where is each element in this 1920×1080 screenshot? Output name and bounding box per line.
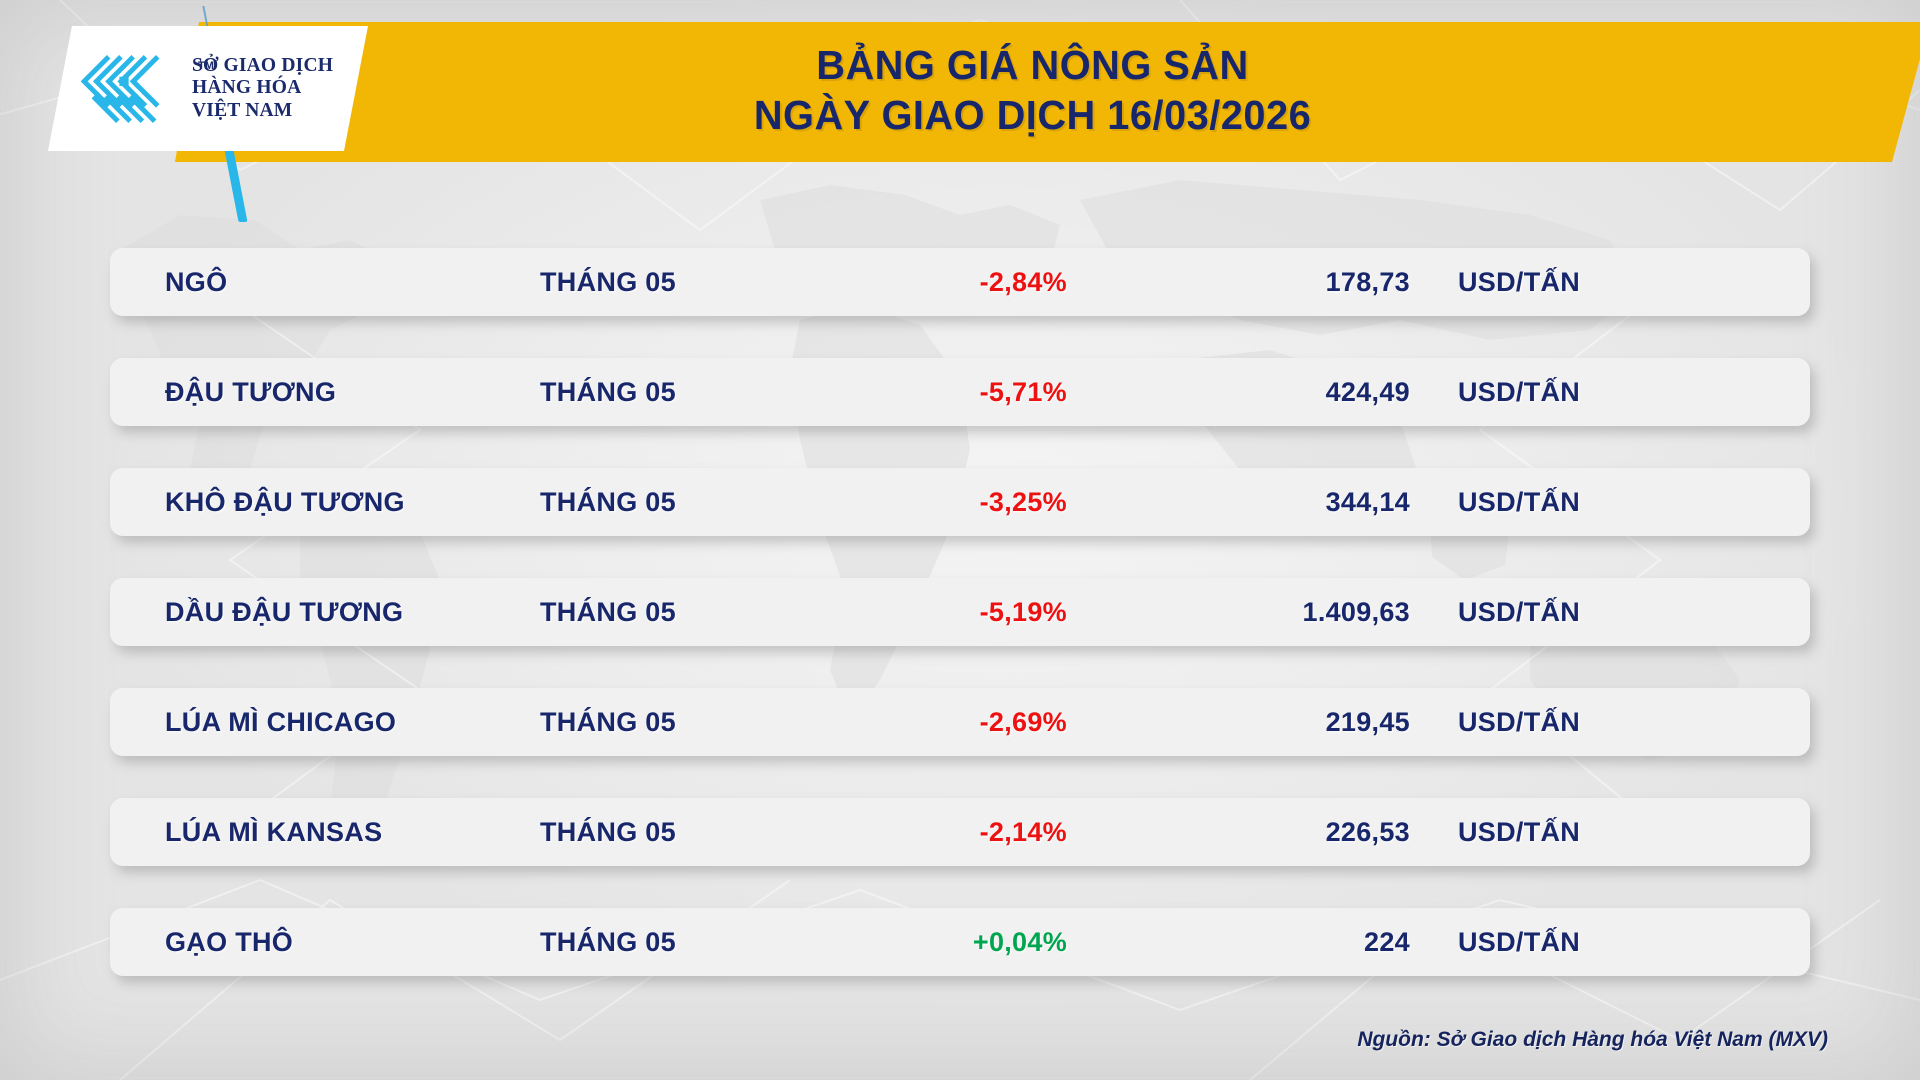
logo-line-2: HÀNG HÓA — [192, 77, 333, 100]
price-unit: USD/TẤN — [1410, 927, 1710, 958]
price-unit: USD/TẤN — [1410, 487, 1710, 518]
price-change: -2,14% — [830, 817, 1125, 848]
commodity-name: LÚA MÌ CHICAGO — [110, 707, 540, 738]
table-row[interactable]: ĐẬU TƯƠNGTHÁNG 05-5,71%424,49USD/TẤN — [110, 358, 1810, 426]
logo-line-3: VIỆT NAM — [192, 100, 333, 123]
trademark-label: TM — [198, 60, 214, 72]
table-row[interactable]: KHÔ ĐẬU TƯƠNGTHÁNG 05-3,25%344,14USD/TẤN — [110, 468, 1810, 536]
price-value: 424,49 — [1125, 377, 1410, 408]
price-change: -3,25% — [830, 487, 1125, 518]
contract-month: THÁNG 05 — [540, 487, 830, 518]
commodity-name: ĐẬU TƯƠNG — [110, 377, 540, 408]
contract-month: THÁNG 05 — [540, 597, 830, 628]
table-row[interactable]: LÚA MÌ CHICAGOTHÁNG 05-2,69%219,45USD/TẤ… — [110, 688, 1810, 756]
price-unit: USD/TẤN — [1410, 377, 1710, 408]
price-change: -5,19% — [830, 597, 1125, 628]
price-unit: USD/TẤN — [1410, 597, 1710, 628]
page-title: BẢNG GIÁ NÔNG SẢN NGÀY GIAO DỊCH 16/03/2… — [201, 40, 1865, 140]
contract-month: THÁNG 05 — [540, 927, 830, 958]
commodity-name: LÚA MÌ KANSAS — [110, 817, 540, 848]
contract-month: THÁNG 05 — [540, 707, 830, 738]
price-unit: USD/TẤN — [1410, 267, 1710, 298]
header: BẢNG GIÁ NÔNG SẢN NGÀY GIAO DỊCH 16/03/2… — [0, 0, 1920, 175]
price-value: 178,73 — [1125, 267, 1410, 298]
contract-month: THÁNG 05 — [540, 267, 830, 298]
contract-month: THÁNG 05 — [540, 377, 830, 408]
price-value: 219,45 — [1125, 707, 1410, 738]
table-row[interactable]: NGÔTHÁNG 05-2,84%178,73USD/TẤN — [110, 248, 1810, 316]
price-change: -2,69% — [830, 707, 1125, 738]
mxv-chevron-logo-icon — [78, 52, 170, 126]
price-change: -2,84% — [830, 267, 1125, 298]
page-title-line1: BẢNG GIÁ NÔNG SẢN — [816, 42, 1248, 88]
price-value: 224 — [1125, 927, 1410, 958]
commodity-name: GẠO THÔ — [110, 927, 540, 958]
page-title-line2: NGÀY GIAO DỊCH 16/03/2026 — [201, 90, 1865, 140]
table-row[interactable]: DẦU ĐẬU TƯƠNGTHÁNG 05-5,19%1.409,63USD/T… — [110, 578, 1810, 646]
price-change: +0,04% — [830, 927, 1125, 958]
commodity-name: KHÔ ĐẬU TƯƠNG — [110, 487, 540, 518]
price-value: 344,14 — [1125, 487, 1410, 518]
price-value: 226,53 — [1125, 817, 1410, 848]
source-note: Nguồn: Sở Giao dịch Hàng hóa Việt Nam (M… — [1357, 1028, 1828, 1052]
price-value: 1.409,63 — [1125, 597, 1410, 628]
title-banner: BẢNG GIÁ NÔNG SẢN NGÀY GIAO DỊCH 16/03/2… — [175, 22, 1920, 162]
table-row[interactable]: GẠO THÔTHÁNG 05+0,04%224USD/TẤN — [110, 908, 1810, 976]
commodity-name: DẦU ĐẬU TƯƠNG — [110, 597, 540, 628]
price-change: -5,71% — [830, 377, 1125, 408]
table-row[interactable]: LÚA MÌ KANSASTHÁNG 05-2,14%226,53USD/TẤN — [110, 798, 1810, 866]
logo-card[interactable]: TM SỞ GIAO DỊCH HÀNG HÓA VIỆT NAM — [48, 26, 368, 151]
commodity-price-table: NGÔTHÁNG 05-2,84%178,73USD/TẤNĐẬU TƯƠNGT… — [110, 248, 1810, 1018]
commodity-name: NGÔ — [110, 267, 540, 298]
price-unit: USD/TẤN — [1410, 707, 1710, 738]
contract-month: THÁNG 05 — [540, 817, 830, 848]
price-unit: USD/TẤN — [1410, 817, 1710, 848]
